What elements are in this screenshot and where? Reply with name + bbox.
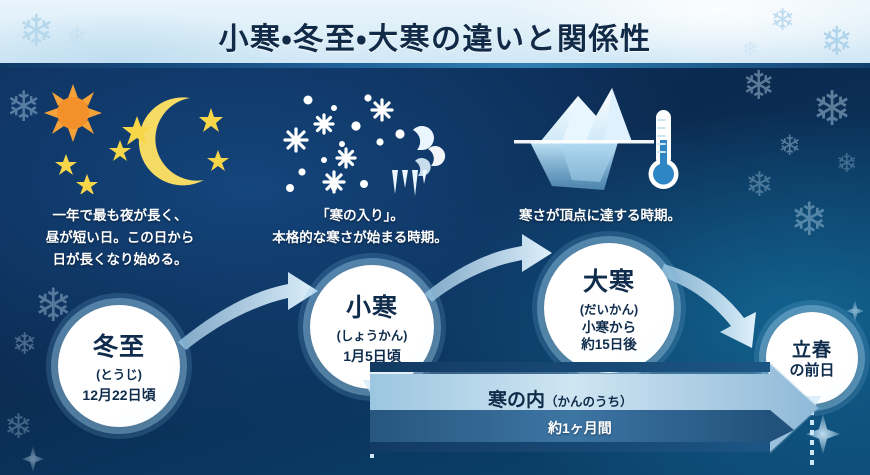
arrow-shokan-to-daikan xyxy=(424,234,552,302)
band-label: 寒の内（かんのうち） xyxy=(488,385,633,412)
infographic-root: ❄ ❄ ❄ ❄ ❄ 小寒・冬至・大寒の違いと関係性 ❄ ❄ ❄ ❄ ❄ ❄ ❄ … xyxy=(0,0,870,475)
band-label-kana: （かんのうち） xyxy=(545,395,633,409)
node-title: 立春 xyxy=(792,335,832,362)
node-daikan[interactable]: 大寒 (だいかん) 小寒から 約15日後 xyxy=(544,243,674,373)
band-label-main: 寒の内 xyxy=(488,390,545,411)
arrow-toji-to-shokan xyxy=(178,272,318,350)
node-kana: (しょうかん) xyxy=(337,325,408,344)
band-sublabel: 約1ヶ月間 xyxy=(548,418,612,438)
node-title: 大寒 xyxy=(583,262,635,298)
node-kana: (だいかん) xyxy=(580,299,638,318)
node-sub-line: 小寒から xyxy=(582,320,636,337)
node-kana: (とうじ) xyxy=(96,364,142,383)
node-title: 冬至 xyxy=(93,327,145,363)
page-title: 小寒・冬至・大寒の違いと関係性 xyxy=(0,14,870,58)
node-title: 小寒 xyxy=(346,288,398,324)
header-banner: ❄ ❄ ❄ ❄ ❄ 小寒・冬至・大寒の違いと関係性 xyxy=(0,0,870,68)
node-date: 12月22日頃 xyxy=(82,385,155,405)
node-sub-line: 約15日後 xyxy=(581,337,637,354)
node-toji[interactable]: 冬至 (とうじ) 12月22日頃 xyxy=(58,305,180,427)
arrow-daikan-to-risshun xyxy=(660,264,756,348)
